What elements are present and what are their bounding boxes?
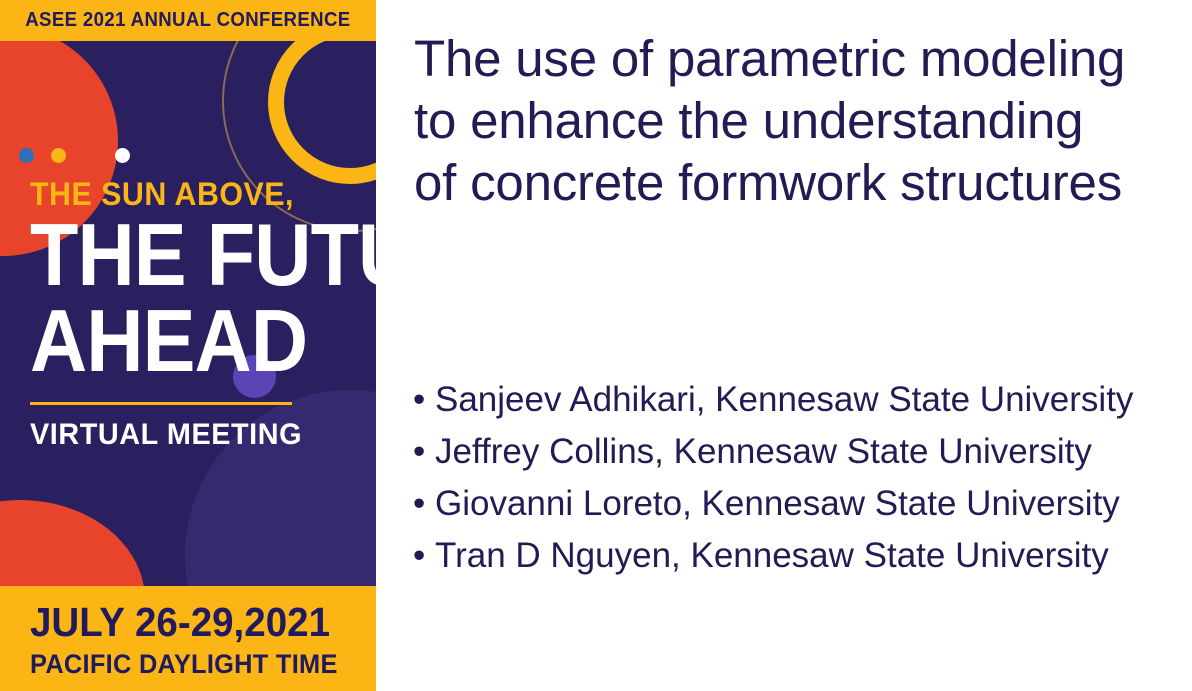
bullet-icon: • xyxy=(413,530,425,582)
dot-blue xyxy=(19,148,34,163)
bullet-icon: • xyxy=(413,478,425,530)
poster-headline-line-3: AHEAD xyxy=(30,298,376,384)
paper-content-panel: The use of parametric modeling to enhanc… xyxy=(376,0,1192,691)
author-label: Tran D Nguyen, Kennesaw State University xyxy=(435,536,1109,575)
conference-date-banner: JULY 26-29,2021 PACIFIC DAYLIGHT TIME xyxy=(0,586,376,691)
list-item: • Jeffrey Collins, Kennesaw State Univer… xyxy=(411,426,1181,478)
poster-headline-block: THE SUN ABOVE, THE FUTURE AHEAD VIRTUAL … xyxy=(30,176,376,452)
conference-poster-panel: ASEE 2021 ANNUAL CONFERENCE THE SUN ABOV… xyxy=(0,0,376,691)
author-label: Sanjeev Adhikari, Kennesaw State Univers… xyxy=(435,380,1133,419)
page-title: The use of parametric modeling to enhanc… xyxy=(414,28,1134,214)
author-label: Giovanni Loreto, Kennesaw State Universi… xyxy=(435,484,1120,523)
conference-name-label: ASEE 2021 ANNUAL CONFERENCE xyxy=(25,9,350,32)
conference-name-banner: ASEE 2021 ANNUAL CONFERENCE xyxy=(0,0,376,41)
dot-gold xyxy=(51,148,66,163)
author-list: • Sanjeev Adhikari, Kennesaw State Unive… xyxy=(411,374,1181,582)
dot-red xyxy=(83,148,98,163)
conference-date-label: JULY 26-29,2021 xyxy=(30,586,355,648)
dot-white xyxy=(115,148,130,163)
list-item: • Sanjeev Adhikari, Kennesaw State Unive… xyxy=(411,374,1181,426)
author-label: Jeffrey Collins, Kennesaw State Universi… xyxy=(435,432,1092,471)
bullet-icon: • xyxy=(413,374,425,426)
conference-timezone-label: PACIFIC DAYLIGHT TIME xyxy=(30,648,355,680)
list-item: • Giovanni Loreto, Kennesaw State Univer… xyxy=(411,478,1181,530)
bullet-icon: • xyxy=(413,426,425,478)
color-dots-row xyxy=(19,148,130,163)
presentation-slide: ASEE 2021 ANNUAL CONFERENCE THE SUN ABOV… xyxy=(0,0,1192,691)
poster-headline-line-2: THE FUTURE xyxy=(30,212,376,298)
meeting-type-label: VIRTUAL MEETING xyxy=(30,418,376,452)
gold-divider-rule xyxy=(30,402,292,405)
list-item: • Tran D Nguyen, Kennesaw State Universi… xyxy=(411,530,1181,582)
